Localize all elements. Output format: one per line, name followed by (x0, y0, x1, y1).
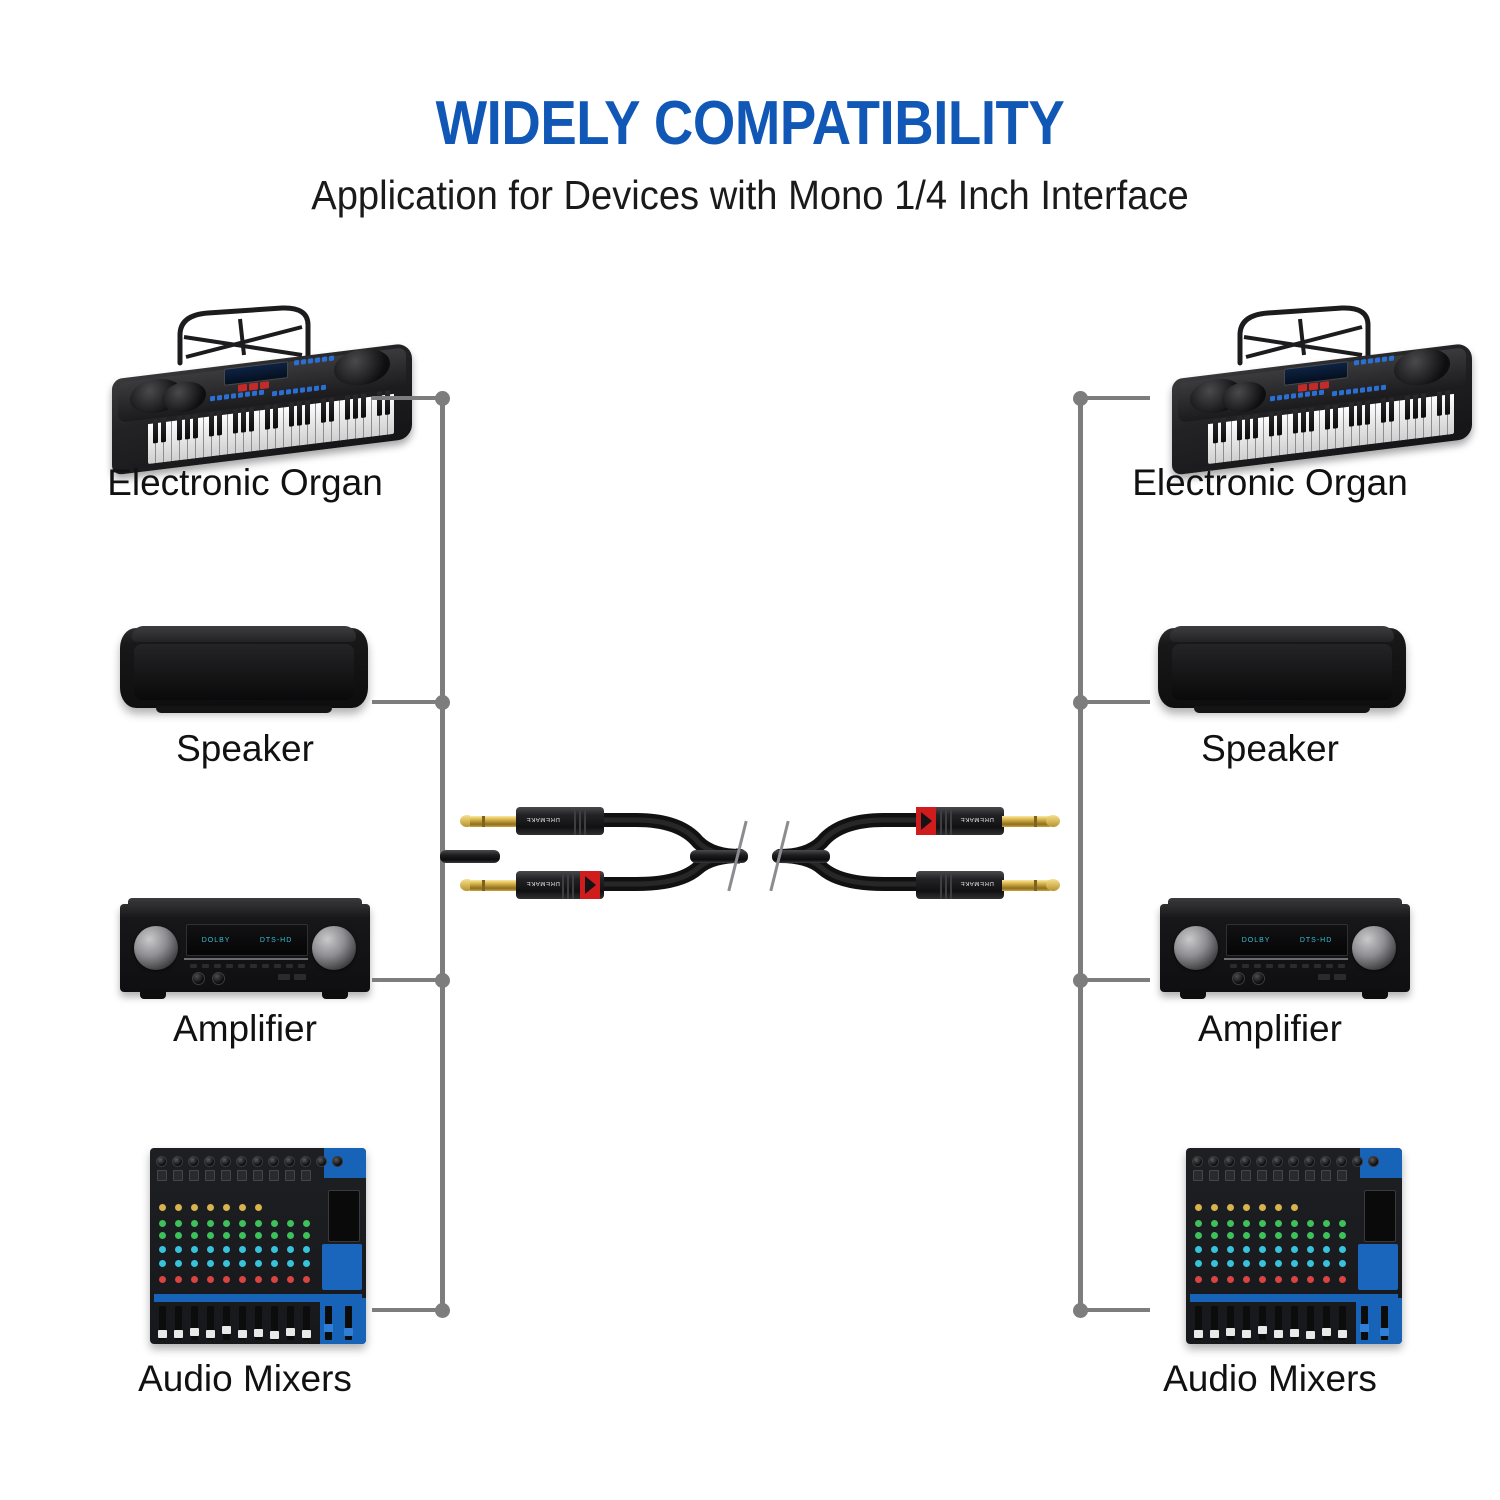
amplifier-foot-left (1180, 990, 1206, 999)
plug-ring-groove (1034, 880, 1037, 891)
amplifier-button[interactable] (286, 964, 293, 968)
amplifier-button[interactable] (298, 964, 305, 968)
amplifier-knob-left[interactable] (1174, 926, 1218, 970)
amplifier-button[interactable] (1254, 964, 1261, 968)
bracket-right-stub-organ (1080, 396, 1150, 400)
bracket-left-node-organ (435, 391, 450, 406)
plug-red-band (916, 807, 936, 835)
amplifier-button[interactable] (1290, 964, 1297, 968)
amplifier-headphone-jack[interactable] (1232, 972, 1245, 985)
bracket-right-node-speaker (1073, 695, 1088, 710)
amplifier-button[interactable] (202, 964, 209, 968)
electronic-keyboard-icon-left (112, 305, 412, 465)
amplifier-button[interactable] (1314, 964, 1321, 968)
page-subtitle: Application for Devices with Mono 1/4 In… (53, 172, 1448, 219)
amplifier-button[interactable] (262, 964, 269, 968)
amplifier-button[interactable] (1266, 964, 1273, 968)
mixer-panel (1186, 1148, 1402, 1344)
amplifier-display-right-text: DTS-HD (260, 937, 292, 944)
amplifier-button[interactable] (294, 974, 306, 980)
plug-ring-groove (482, 880, 485, 891)
plug-brand-text: DREMAKE (960, 816, 994, 822)
audio-cable-assembly: DREMAKE DREMAKE DREMAKE (440, 780, 1080, 930)
amplifier-display: DOLBY DTS-HD (186, 924, 308, 956)
bracket-left-node-amplifier (435, 973, 450, 988)
av-receiver-icon-right: DOLBY DTS-HD (1160, 898, 1410, 1002)
bracket-left-stub-mixer (372, 1308, 442, 1312)
speaker-foot (1194, 706, 1370, 713)
amplifier-button[interactable] (238, 964, 245, 968)
electronic-keyboard-icon-right (1172, 305, 1472, 465)
plug-gold-tip (1046, 879, 1060, 891)
bracket-right-stub-speaker (1080, 700, 1150, 704)
amplifier-knob-right[interactable] (312, 926, 356, 970)
amplifier-knob-left[interactable] (134, 926, 178, 970)
amplifier-display-left-text: DOLBY (202, 937, 231, 944)
mixer-blue-mid-accent (322, 1244, 362, 1290)
amplifier-display: DOLBY DTS-HD (1226, 924, 1348, 956)
amplifier-button[interactable] (250, 964, 257, 968)
plug-red-band (580, 871, 600, 899)
amplifier-button[interactable] (1334, 974, 1346, 980)
amplifier-foot-right (322, 990, 348, 999)
bracket-left-stub-amplifier (372, 978, 442, 982)
cable-wire-paths (440, 780, 1080, 930)
amplifier-button[interactable] (278, 974, 290, 980)
page-title: WIDELY COMPATIBILITY (90, 88, 1410, 159)
plug-gold-shaft (470, 880, 518, 891)
amplifier-button[interactable] (1318, 974, 1330, 980)
plug-gold-shaft (1002, 816, 1050, 827)
speaker-grille (134, 644, 354, 700)
av-receiver-icon-left: DOLBY DTS-HD (120, 898, 370, 1002)
bracket-left-node-mixer (435, 1303, 450, 1318)
bracket-right-node-mixer (1073, 1303, 1088, 1318)
plug-brand-text: DREMAKE (526, 816, 560, 822)
mixer-blue-top-accent (324, 1148, 366, 1178)
amplifier-button[interactable] (1230, 964, 1237, 968)
amplifier-foot-left (140, 990, 166, 999)
bluetooth-speaker-icon-left (120, 622, 368, 714)
amplifier-headphone-jack[interactable] (192, 972, 205, 985)
label-electronic-organ-left: Electronic Organ (0, 462, 490, 504)
plug-right-bottom: DREMAKE (910, 870, 1060, 900)
amplifier-button[interactable] (1242, 964, 1249, 968)
amplifier-trim-strip (1224, 958, 1348, 960)
amplifier-button[interactable] (274, 964, 281, 968)
plug-ring-groove (482, 816, 485, 827)
plug-gold-shaft (470, 816, 518, 827)
amplifier-button[interactable] (1278, 964, 1285, 968)
label-amplifier-right: Amplifier (1040, 1008, 1500, 1050)
plug-left-bottom: DREMAKE (460, 870, 610, 900)
amplifier-button[interactable] (1338, 964, 1345, 968)
amplifier-trim-strip (184, 958, 308, 960)
mixer-blue-divider (154, 1294, 362, 1302)
bracket-left-stub-organ (372, 396, 442, 400)
plug-gold-shaft (1002, 880, 1050, 891)
plug-left-top: DREMAKE (460, 806, 610, 836)
plug-gold-tip (1046, 815, 1060, 827)
amplifier-button[interactable] (1326, 964, 1333, 968)
plug-brand-text: DREMAKE (526, 880, 560, 886)
bracket-left-node-speaker (435, 695, 450, 710)
bracket-right-stub-amplifier (1080, 978, 1150, 982)
mixer-blue-top-accent (1360, 1148, 1402, 1178)
amplifier-knob-right[interactable] (1352, 926, 1396, 970)
amplifier-aux-jack[interactable] (212, 972, 225, 985)
amplifier-button[interactable] (190, 964, 197, 968)
cable-trunk-left (440, 850, 500, 863)
speaker-top-controls (132, 626, 356, 642)
speaker-foot (156, 706, 332, 713)
audio-mixer-icon-left (150, 1148, 366, 1344)
speaker-top-controls (1170, 626, 1394, 642)
bluetooth-speaker-icon-right (1158, 622, 1406, 714)
bracket-right-node-amplifier (1073, 973, 1088, 988)
amplifier-button[interactable] (214, 964, 221, 968)
label-audio-mixers-right: Audio Mixers (1040, 1358, 1500, 1400)
amplifier-display-left-text: DOLBY (1242, 937, 1271, 944)
amplifier-button[interactable] (226, 964, 233, 968)
label-speaker-right: Speaker (1040, 728, 1500, 770)
label-amplifier-left: Amplifier (0, 1008, 490, 1050)
amplifier-aux-jack[interactable] (1252, 972, 1265, 985)
mixer-card-slot (328, 1190, 360, 1242)
label-audio-mixers-left: Audio Mixers (0, 1358, 490, 1400)
infographic-canvas: WIDELY COMPATIBILITY Application for Dev… (0, 0, 1500, 1500)
mixer-panel (150, 1148, 366, 1344)
plug-brand-text: DREMAKE (960, 880, 994, 886)
amplifier-foot-right (1362, 990, 1388, 999)
label-speaker-left: Speaker (0, 728, 490, 770)
label-electronic-organ-right: Electronic Organ (1040, 462, 1500, 504)
mixer-blue-mid-accent (1358, 1244, 1398, 1290)
bracket-right-node-organ (1073, 391, 1088, 406)
audio-mixer-icon-right (1186, 1148, 1402, 1344)
bracket-left-stub-speaker (372, 700, 442, 704)
plug-right-top: DREMAKE (910, 806, 1060, 836)
speaker-grille (1172, 644, 1392, 700)
mixer-blue-divider (1190, 1294, 1398, 1302)
bracket-right-stub-mixer (1080, 1308, 1150, 1312)
amplifier-button[interactable] (1302, 964, 1309, 968)
amplifier-display-right-text: DTS-HD (1300, 937, 1332, 944)
plug-ring-groove (1034, 816, 1037, 827)
mixer-card-slot (1364, 1190, 1396, 1242)
